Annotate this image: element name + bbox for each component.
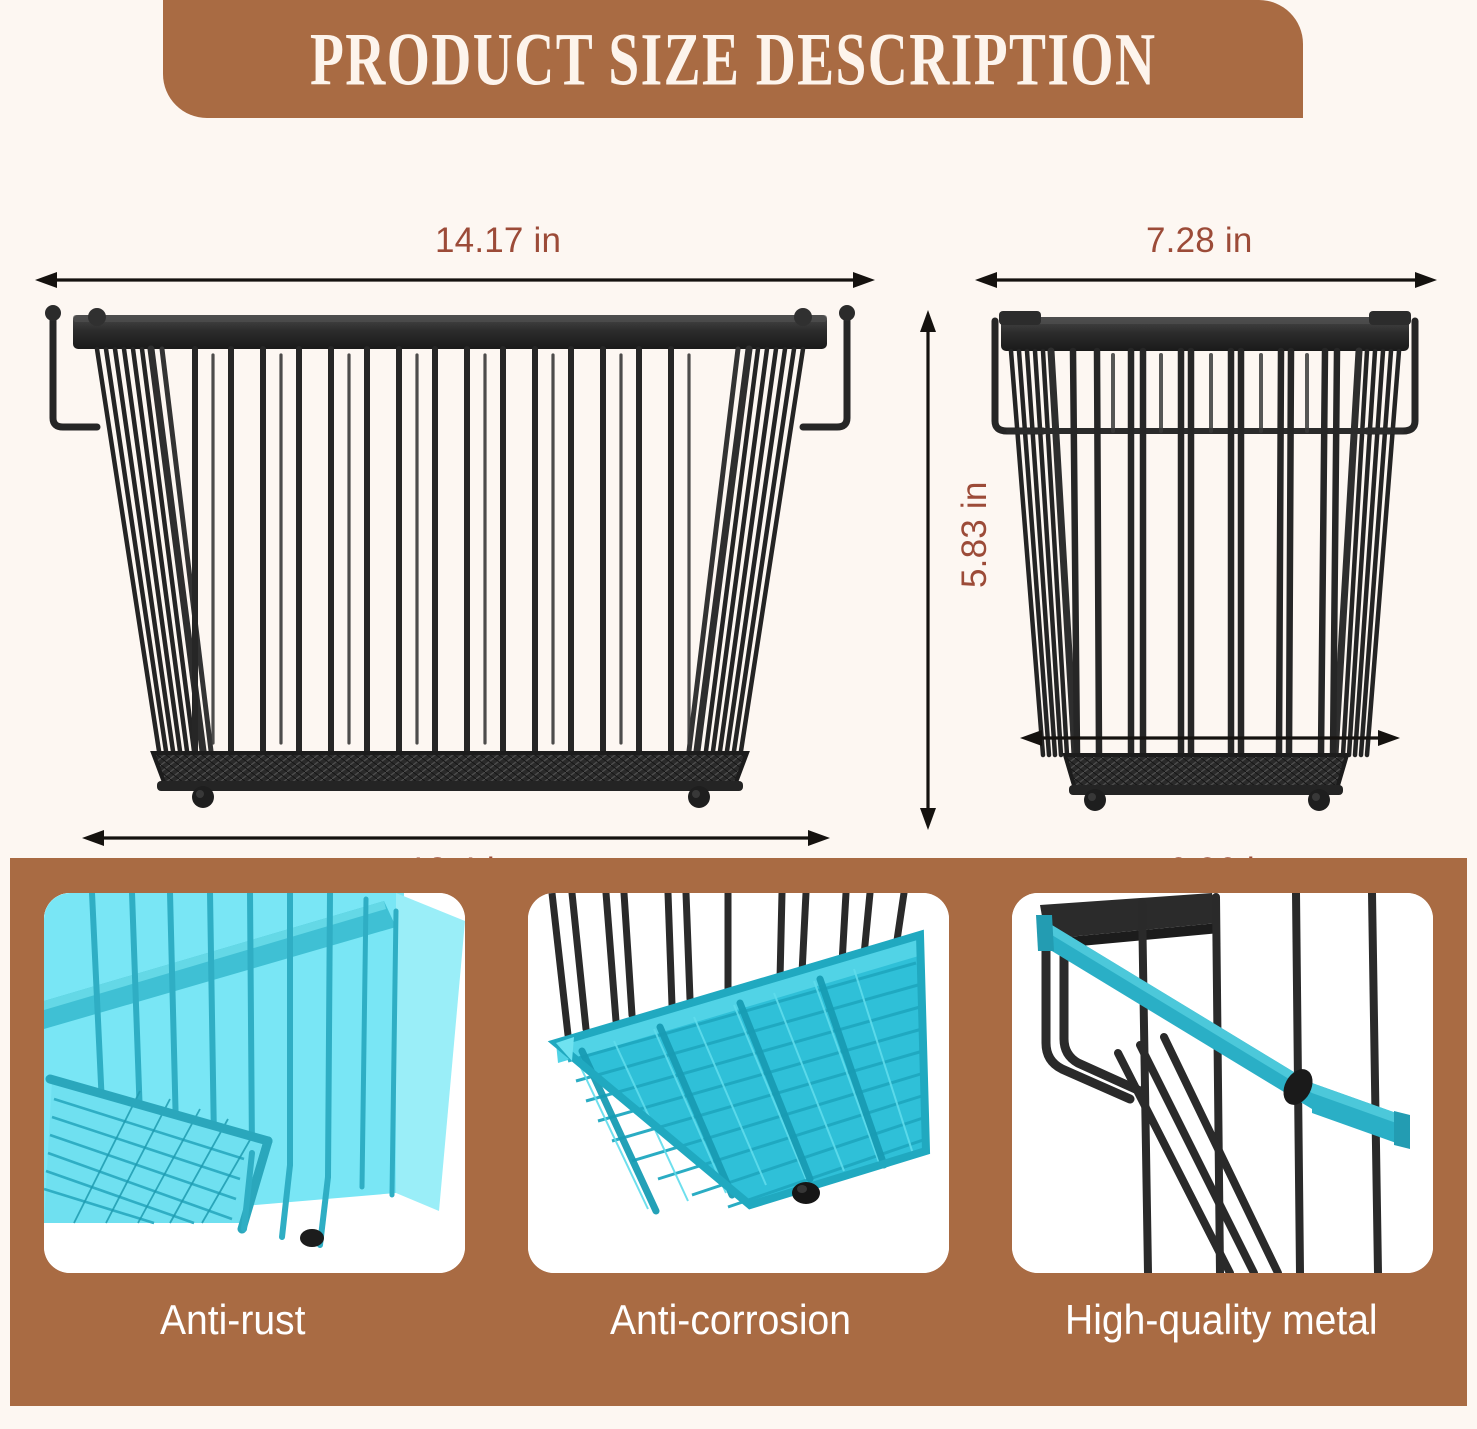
page-title: PRODUCT SIZE DESCRIPTION [310, 21, 1156, 97]
arrow-double-vertical-icon [918, 310, 938, 830]
height-arrow [918, 310, 938, 830]
front-top-width-arrow [35, 270, 875, 290]
front-top-width-label: 14.17 in [435, 221, 561, 261]
side-top-width-arrow [975, 270, 1437, 290]
feature-label-high-quality-metal: High-quality metal [1065, 1296, 1378, 1344]
feature-card-anti-rust [44, 893, 465, 1273]
feature-card-high-quality-metal [1012, 893, 1433, 1273]
side-bottom-width-arrow [1020, 728, 1400, 748]
basket-corner-closeup [44, 893, 465, 1273]
feature-label-anti-corrosion: Anti-corrosion [610, 1296, 851, 1344]
side-top-width-label: 7.28 in [1146, 221, 1253, 261]
dimension-diagram-section: 14.17 in 12.4 in 5.83 in 7.28 in [0, 118, 1477, 858]
height-label: 5.83 in [955, 482, 995, 589]
arrow-double-horizontal-icon [1020, 728, 1400, 748]
feature-card-anti-corrosion [528, 893, 949, 1273]
feature-label-anti-rust: Anti-rust [160, 1296, 305, 1344]
arrow-double-horizontal-icon [82, 828, 830, 848]
features-panel: Anti-rust Anti-corrosion High-quality me… [10, 858, 1467, 1406]
front-bottom-width-arrow [82, 828, 830, 848]
header-banner: PRODUCT SIZE DESCRIPTION [163, 0, 1303, 118]
front-view-basket [35, 303, 865, 823]
handle-bar-closeup [1012, 893, 1433, 1273]
arrow-double-horizontal-icon [975, 270, 1437, 290]
arrow-double-horizontal-icon [35, 270, 875, 290]
front-view-svg [35, 303, 865, 823]
mesh-base-closeup [528, 893, 949, 1273]
